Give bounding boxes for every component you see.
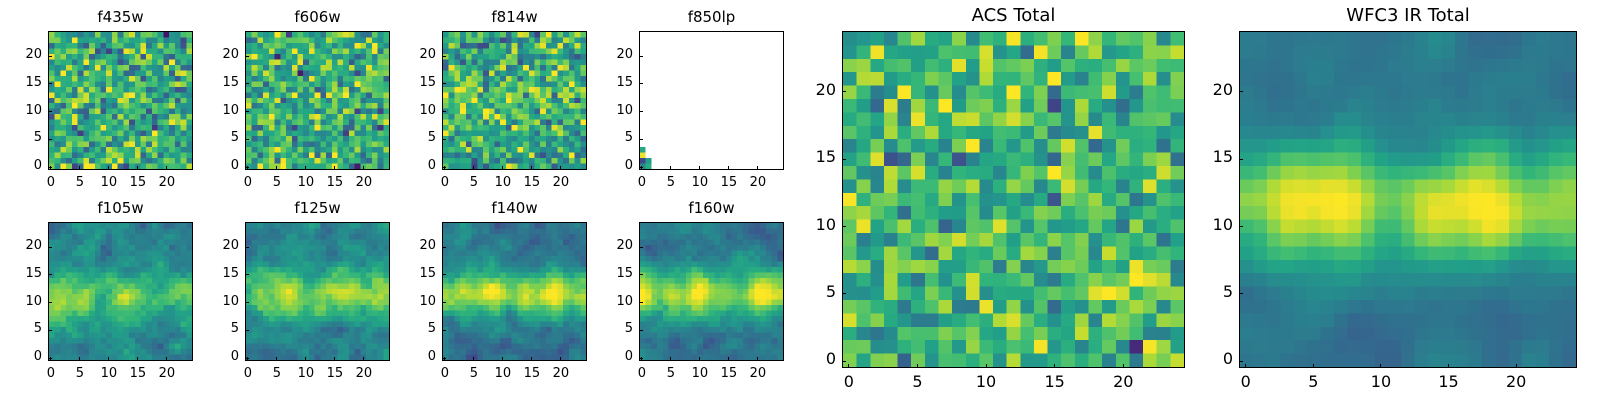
x-tick-label: 20 bbox=[728, 176, 788, 189]
y-tick-label: 10 bbox=[378, 104, 436, 117]
x-tickmark bbox=[670, 357, 671, 361]
x-tickmark bbox=[334, 357, 335, 361]
y-tick-label: 0 bbox=[181, 159, 239, 172]
y-tick-label: 0 bbox=[575, 159, 633, 172]
y-tick-label: 20 bbox=[181, 48, 239, 61]
plot-area-f814w bbox=[442, 31, 587, 170]
y-tickmark bbox=[48, 274, 52, 275]
y-tick-label: 10 bbox=[778, 217, 836, 233]
y-tick-label: 5 bbox=[378, 322, 436, 335]
x-tickmark bbox=[757, 357, 758, 361]
plot-area-f435w bbox=[48, 31, 193, 170]
y-tickmark bbox=[442, 139, 446, 140]
x-tick-label: 20 bbox=[531, 367, 591, 380]
y-tickmark bbox=[842, 91, 846, 92]
y-tickmark bbox=[442, 358, 446, 359]
y-tickmark bbox=[48, 83, 52, 84]
x-tickmark bbox=[531, 166, 532, 170]
x-tickmark bbox=[108, 357, 109, 361]
x-tickmark bbox=[473, 166, 474, 170]
y-tickmark bbox=[245, 247, 249, 248]
y-tick-label: 5 bbox=[0, 322, 42, 335]
y-tick-label: 0 bbox=[0, 350, 42, 363]
y-tick-label: 5 bbox=[575, 131, 633, 144]
y-tickmark bbox=[48, 139, 52, 140]
x-tickmark bbox=[917, 364, 918, 368]
x-tick-label: 15 bbox=[1419, 374, 1479, 390]
y-tickmark bbox=[639, 274, 643, 275]
y-tick-label: 0 bbox=[378, 350, 436, 363]
y-tickmark bbox=[639, 139, 643, 140]
y-tick-label: 20 bbox=[575, 48, 633, 61]
x-tickmark bbox=[560, 166, 561, 170]
y-tickmark bbox=[1239, 361, 1243, 362]
y-tick-label: 10 bbox=[575, 295, 633, 308]
y-tickmark bbox=[1239, 91, 1243, 92]
y-tick-label: 5 bbox=[575, 322, 633, 335]
heatmap-image-acs-total bbox=[843, 32, 1184, 367]
y-tick-label: 0 bbox=[181, 350, 239, 363]
x-tickmark bbox=[699, 166, 700, 170]
y-tick-label: 20 bbox=[378, 239, 436, 252]
x-tick-label: 20 bbox=[334, 367, 394, 380]
x-tickmark bbox=[108, 166, 109, 170]
x-tickmark bbox=[305, 357, 306, 361]
x-tick-label: 20 bbox=[137, 176, 197, 189]
x-tickmark bbox=[363, 166, 364, 170]
heatmap-image-wfc3-ir-total bbox=[1240, 32, 1576, 367]
x-tickmark bbox=[986, 364, 987, 368]
x-tick-label: 20 bbox=[137, 367, 197, 380]
plot-area-f160w bbox=[639, 222, 784, 361]
x-tickmark bbox=[757, 166, 758, 170]
x-tick-label: 10 bbox=[1351, 374, 1411, 390]
x-tickmark bbox=[1380, 364, 1381, 368]
y-tickmark bbox=[245, 56, 249, 57]
y-tick-label: 15 bbox=[378, 267, 436, 280]
y-tickmark bbox=[639, 83, 643, 84]
y-tick-label: 5 bbox=[1175, 284, 1233, 300]
y-tick-label: 15 bbox=[181, 267, 239, 280]
plot-area-acs-total bbox=[842, 31, 1185, 368]
y-tickmark bbox=[1239, 226, 1243, 227]
y-tick-label: 20 bbox=[0, 239, 42, 252]
panel-title-f160w: f160w bbox=[639, 199, 784, 217]
x-tickmark bbox=[473, 357, 474, 361]
panel-title-f140w: f140w bbox=[442, 199, 587, 217]
y-tick-label: 5 bbox=[181, 322, 239, 335]
y-tick-label: 15 bbox=[575, 76, 633, 89]
y-tick-label: 20 bbox=[1175, 82, 1233, 98]
x-tickmark bbox=[848, 364, 849, 368]
x-tickmark bbox=[670, 166, 671, 170]
x-tickmark bbox=[276, 357, 277, 361]
plot-area-f105w bbox=[48, 222, 193, 361]
y-tickmark bbox=[842, 361, 846, 362]
y-tick-label: 0 bbox=[0, 159, 42, 172]
y-tickmark bbox=[245, 274, 249, 275]
y-tick-label: 5 bbox=[378, 131, 436, 144]
y-tickmark bbox=[639, 111, 643, 112]
heatmap-image-f814w bbox=[443, 32, 586, 169]
y-tickmark bbox=[245, 111, 249, 112]
y-tick-label: 10 bbox=[575, 104, 633, 117]
y-tick-label: 10 bbox=[181, 104, 239, 117]
y-tickmark bbox=[639, 330, 643, 331]
y-tickmark bbox=[48, 167, 52, 168]
y-tick-label: 15 bbox=[0, 76, 42, 89]
y-tickmark bbox=[842, 159, 846, 160]
panel-title-f606w: f606w bbox=[245, 8, 390, 26]
y-tickmark bbox=[245, 167, 249, 168]
heatmap-image-f105w bbox=[49, 223, 192, 360]
y-tickmark bbox=[442, 167, 446, 168]
y-tick-label: 15 bbox=[575, 267, 633, 280]
x-tick-label: 0 bbox=[819, 374, 879, 390]
x-tickmark bbox=[305, 166, 306, 170]
x-tick-label: 20 bbox=[728, 367, 788, 380]
x-tick-label: 10 bbox=[956, 374, 1016, 390]
y-tickmark bbox=[245, 302, 249, 303]
y-tick-label: 20 bbox=[575, 239, 633, 252]
panel-title-f814w: f814w bbox=[442, 8, 587, 26]
x-tick-label: 15 bbox=[1025, 374, 1085, 390]
y-tickmark bbox=[245, 358, 249, 359]
x-tickmark bbox=[502, 166, 503, 170]
x-tickmark bbox=[560, 357, 561, 361]
x-tick-label: 5 bbox=[887, 374, 947, 390]
y-tickmark bbox=[48, 111, 52, 112]
x-tickmark bbox=[334, 166, 335, 170]
x-tickmark bbox=[531, 357, 532, 361]
x-tickmark bbox=[1313, 364, 1314, 368]
y-tickmark bbox=[639, 167, 643, 168]
y-tick-label: 0 bbox=[575, 350, 633, 363]
y-tick-label: 15 bbox=[778, 149, 836, 165]
y-tick-label: 15 bbox=[1175, 149, 1233, 165]
y-tickmark bbox=[442, 247, 446, 248]
x-tickmark bbox=[728, 357, 729, 361]
y-tick-label: 0 bbox=[1175, 351, 1233, 367]
y-tickmark bbox=[48, 56, 52, 57]
y-tickmark bbox=[1239, 293, 1243, 294]
panel-title-f105w: f105w bbox=[48, 199, 193, 217]
heatmap-image-f125w bbox=[246, 223, 389, 360]
y-tick-label: 15 bbox=[181, 76, 239, 89]
x-tickmark bbox=[137, 166, 138, 170]
x-tick-label: 0 bbox=[1216, 374, 1276, 390]
heatmap-image-f606w bbox=[246, 32, 389, 169]
x-tick-label: 20 bbox=[1093, 374, 1153, 390]
panel-title-f435w: f435w bbox=[48, 8, 193, 26]
x-tickmark bbox=[1245, 364, 1246, 368]
x-tickmark bbox=[699, 357, 700, 361]
y-tickmark bbox=[639, 358, 643, 359]
plot-area-f850lp bbox=[639, 31, 784, 170]
x-tickmark bbox=[1054, 364, 1055, 368]
x-tickmark bbox=[166, 166, 167, 170]
y-tickmark bbox=[48, 247, 52, 248]
y-tick-label: 20 bbox=[778, 82, 836, 98]
y-tick-label: 10 bbox=[1175, 217, 1233, 233]
y-tick-label: 15 bbox=[0, 267, 42, 280]
y-tick-label: 5 bbox=[778, 284, 836, 300]
x-tick-label: 20 bbox=[334, 176, 394, 189]
y-tick-label: 10 bbox=[378, 295, 436, 308]
x-tickmark bbox=[1448, 364, 1449, 368]
y-tick-label: 5 bbox=[181, 131, 239, 144]
x-tickmark bbox=[79, 166, 80, 170]
y-tickmark bbox=[442, 56, 446, 57]
y-tick-label: 15 bbox=[378, 76, 436, 89]
panel-title-acs-total: ACS Total bbox=[842, 5, 1185, 26]
y-tickmark bbox=[639, 247, 643, 248]
y-tick-label: 5 bbox=[0, 131, 42, 144]
y-tickmark bbox=[245, 139, 249, 140]
x-tickmark bbox=[728, 166, 729, 170]
heatmap-image-f140w bbox=[443, 223, 586, 360]
y-tick-label: 0 bbox=[378, 159, 436, 172]
y-tick-label: 10 bbox=[0, 104, 42, 117]
y-tick-label: 0 bbox=[778, 351, 836, 367]
y-tickmark bbox=[442, 111, 446, 112]
y-tickmark bbox=[842, 293, 846, 294]
y-tickmark bbox=[245, 83, 249, 84]
panel-title-f125w: f125w bbox=[245, 199, 390, 217]
x-tickmark bbox=[363, 357, 364, 361]
y-tick-label: 20 bbox=[378, 48, 436, 61]
plot-area-wfc3-ir-total bbox=[1239, 31, 1577, 368]
y-tickmark bbox=[48, 330, 52, 331]
y-tickmark bbox=[48, 302, 52, 303]
x-tick-label: 20 bbox=[1486, 374, 1546, 390]
y-tickmark bbox=[442, 83, 446, 84]
plot-area-f140w bbox=[442, 222, 587, 361]
y-tickmark bbox=[442, 302, 446, 303]
x-tickmark bbox=[502, 357, 503, 361]
y-tick-label: 10 bbox=[181, 295, 239, 308]
x-tickmark bbox=[137, 357, 138, 361]
x-tickmark bbox=[276, 166, 277, 170]
panel-title-wfc3-ir-total: WFC3 IR Total bbox=[1239, 5, 1577, 26]
y-tickmark bbox=[48, 358, 52, 359]
y-tickmark bbox=[639, 302, 643, 303]
plot-area-f125w bbox=[245, 222, 390, 361]
y-tickmark bbox=[1239, 159, 1243, 160]
plot-area-f606w bbox=[245, 31, 390, 170]
x-tick-label: 5 bbox=[1283, 374, 1343, 390]
x-tickmark bbox=[1516, 364, 1517, 368]
panel-title-f850lp: f850lp bbox=[639, 8, 784, 26]
x-tick-label: 20 bbox=[531, 176, 591, 189]
x-tickmark bbox=[166, 357, 167, 361]
y-tickmark bbox=[442, 330, 446, 331]
y-tickmark bbox=[842, 226, 846, 227]
x-tickmark bbox=[1123, 364, 1124, 368]
heatmap-image-f435w bbox=[49, 32, 192, 169]
y-tickmark bbox=[245, 330, 249, 331]
y-tick-label: 20 bbox=[181, 239, 239, 252]
y-tick-label: 10 bbox=[0, 295, 42, 308]
y-tickmark bbox=[442, 274, 446, 275]
y-tick-label: 20 bbox=[0, 48, 42, 61]
heatmap-image-f160w bbox=[640, 223, 783, 360]
y-tickmark bbox=[639, 56, 643, 57]
x-tickmark bbox=[79, 357, 80, 361]
heatmap-image-f850lp bbox=[640, 32, 783, 169]
